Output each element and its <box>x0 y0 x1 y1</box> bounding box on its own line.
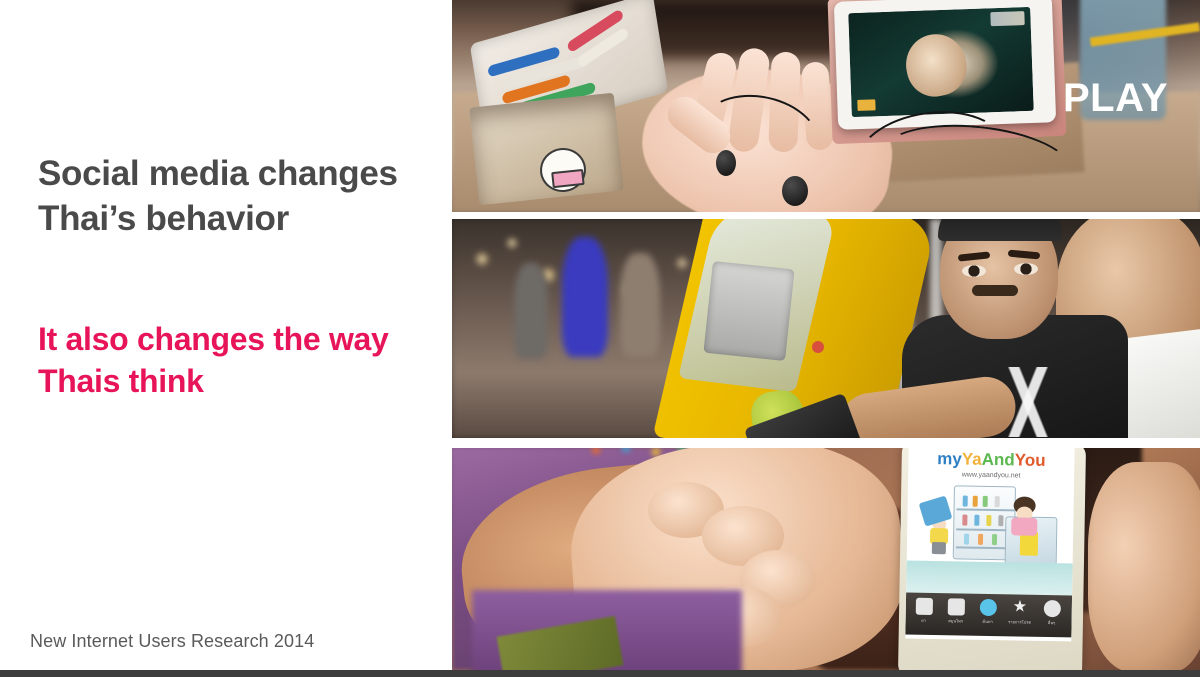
driver-cap <box>938 219 1062 241</box>
bottle-icon <box>983 496 988 507</box>
caption-play: PLAY <box>1063 76 1168 121</box>
video-subject <box>900 29 972 102</box>
nav-item-favourites[interactable]: ★ รายการโปรด <box>1008 599 1032 625</box>
photo-work: WORK <box>452 219 1200 438</box>
page-title: Social media changes Thai’s behavior <box>38 152 408 242</box>
bottle-icon <box>992 534 997 545</box>
nav-item-search[interactable]: ค้นหา <box>976 599 1000 625</box>
nav-item-medicine[interactable]: ยา <box>912 598 936 624</box>
video-overlay-badge <box>857 99 875 111</box>
app-logo: myYaAndYou <box>916 449 1066 472</box>
earbud <box>716 150 736 176</box>
bottle-icon <box>964 534 969 545</box>
photo-play: PLAY <box>452 0 1200 212</box>
moustache <box>972 285 1018 296</box>
tablet-screen <box>848 7 1034 117</box>
slide-root: Social media changes Thai’s behavior It … <box>0 0 1200 677</box>
pedestrian <box>514 263 548 359</box>
photo-stack: PLAY <box>452 0 1200 677</box>
app-logo-my: my <box>937 449 962 468</box>
red-indicator <box>812 341 824 353</box>
app-logo-and: And <box>982 450 1015 470</box>
nav-item-more[interactable]: อื่นๆ <box>1040 600 1064 626</box>
eye <box>962 265 986 277</box>
nav-item-herbal[interactable]: สมุนไพร <box>944 598 968 624</box>
bottom-accent-bar <box>0 670 1200 677</box>
tin-box-base <box>469 93 623 206</box>
bottle-icon <box>995 496 1000 507</box>
hand-right <box>1088 462 1200 670</box>
girl-dress <box>1011 517 1037 535</box>
earbud <box>782 176 808 206</box>
pill-icon <box>915 598 932 615</box>
bottle-icon <box>978 534 983 545</box>
photo-work-scene <box>452 219 1200 438</box>
app-logo-you: You <box>1015 450 1046 470</box>
source-footnote: New Internet Users Research 2014 <box>30 631 314 652</box>
subheadline: It also changes the way Thais think <box>38 318 438 402</box>
channel-watermark <box>990 11 1024 26</box>
bottle-icon <box>973 496 978 507</box>
gear-icon <box>1043 600 1060 617</box>
bottle-icon <box>962 515 967 526</box>
pedestrian <box>620 253 660 357</box>
boy-character <box>925 507 956 560</box>
dashboard-meter <box>703 261 794 361</box>
bottle-icon <box>963 496 968 507</box>
eye <box>1014 263 1038 275</box>
star-icon: ★ <box>1011 599 1028 616</box>
app-navbar: ยา สมุนไพร ค้นหา ★ รายการโปรด <box>905 593 1072 638</box>
app-logo-ya: Ya <box>962 449 982 468</box>
app-url: www.yaandyou.net <box>916 471 1066 481</box>
folder-icon <box>947 598 964 615</box>
bottle-icon <box>974 515 979 526</box>
photo-learn: myYaAndYou www.yaandyou.net <box>452 448 1200 670</box>
photo-learn-scene: myYaAndYou www.yaandyou.net <box>452 448 1200 670</box>
bottle-icon <box>986 515 991 526</box>
app-screen: myYaAndYou www.yaandyou.net <box>905 448 1074 641</box>
boy-shorts <box>932 542 946 554</box>
blue-box <box>919 495 953 526</box>
pedestrian <box>562 237 608 357</box>
bottle-icon <box>998 515 1003 526</box>
search-icon <box>979 599 996 616</box>
girl-character <box>1005 496 1046 555</box>
text-column: Social media changes Thai’s behavior It … <box>0 0 452 677</box>
